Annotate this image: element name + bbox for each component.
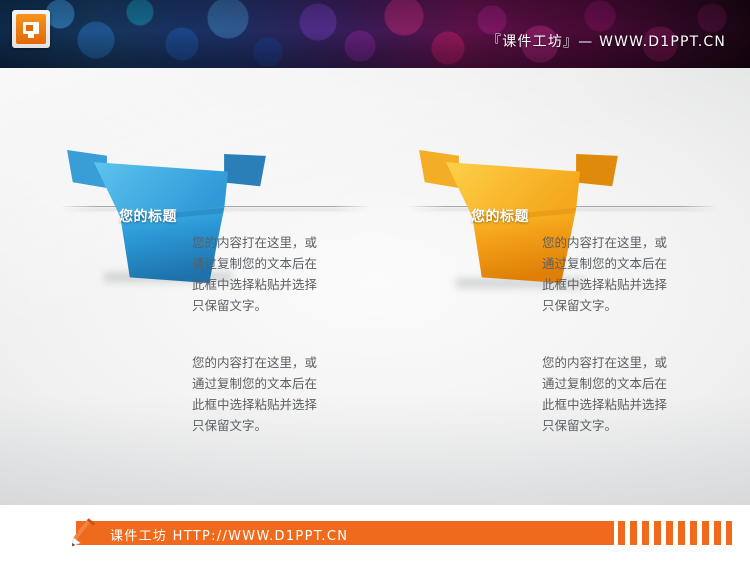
pencil-icon bbox=[62, 515, 100, 553]
left-paragraph-1: 您的内容打在这里，或 通过复制您的文本后在 此框中选择粘贴并选择 只保留文字。 bbox=[192, 232, 372, 316]
right-paragraph-1: 您的内容打在这里，或 通过复制您的文本后在 此框中选择粘贴并选择 只保留文字。 bbox=[542, 232, 722, 316]
banner-title: 『课件工坊』— WWW.D1PPT.CN bbox=[487, 31, 726, 51]
left-paragraph-2: 您的内容打在这里，或 通过复制您的文本后在 此框中选择粘贴并选择 只保留文字。 bbox=[192, 352, 372, 436]
logo-stand-shape bbox=[28, 34, 34, 38]
presentation-logo-icon bbox=[12, 10, 50, 48]
footer: 课件工坊 HTTP://WWW.D1PPT.CN bbox=[0, 505, 750, 563]
footer-stripes bbox=[618, 521, 732, 545]
right-ribbon-wing-right-icon bbox=[576, 154, 618, 192]
right-paragraph-2: 您的内容打在这里，或 通过复制您的文本后在 此框中选择粘贴并选择 只保留文字。 bbox=[542, 352, 722, 436]
logo-inner-shape bbox=[16, 14, 46, 44]
left-ribbon-wing-right-icon bbox=[224, 154, 266, 192]
slide-page: 『课件工坊』— WWW.D1PPT.CN bbox=[0, 0, 750, 563]
footer-text: 课件工坊 HTTP://WWW.D1PPT.CN bbox=[110, 525, 348, 544]
logo-screen-shape bbox=[23, 22, 39, 34]
